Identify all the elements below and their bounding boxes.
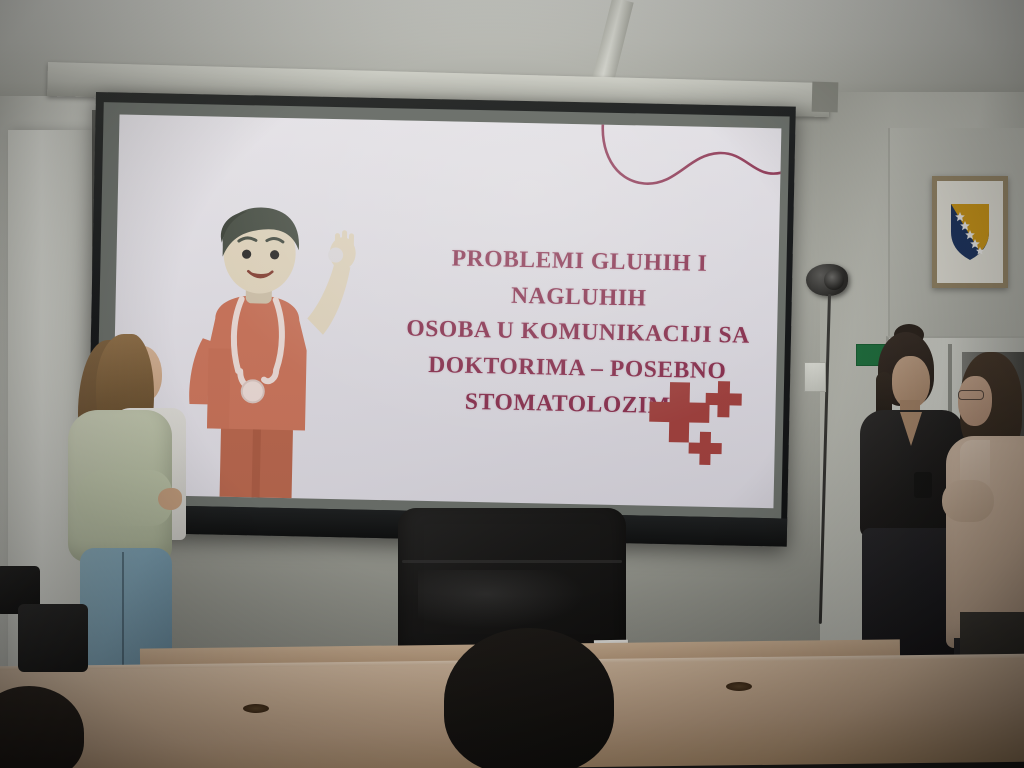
wall-fixture-lens-icon: [824, 270, 844, 290]
medical-cross-decoration-icon: [630, 369, 752, 471]
presenter-left-hand: [158, 488, 182, 510]
office-chair-highlight: [418, 570, 588, 630]
bosnia-herzegovina-coat-of-arms-icon: [948, 202, 992, 262]
projection-screen[interactable]: PROBLEMI GLUHIH I NAGLUHIH OSOBA U KOMUN…: [87, 92, 796, 547]
office-chair-seam: [402, 560, 622, 563]
room-photo-scene: PROBLEMI GLUHIH I NAGLUHIH OSOBA U KOMUN…: [0, 0, 1024, 768]
table-grommet: [726, 682, 752, 691]
framed-coat-of-arms: [932, 176, 1008, 288]
wall-socket: [804, 362, 826, 392]
slide-title-line-1: PROBLEMI GLUHIH I NAGLUHIH: [393, 240, 764, 319]
table-grommet: [243, 704, 269, 713]
presenter-black-phone: [914, 472, 932, 498]
presenter-beige-arm: [942, 480, 994, 522]
valance-end-cap: [812, 82, 839, 113]
equipment-bag: [18, 604, 88, 672]
wave-decoration-icon: [596, 114, 782, 204]
presenter-beige-face: [958, 376, 992, 426]
audience-head-center: [444, 628, 614, 768]
presentation-slide: PROBLEMI GLUHIH I NAGLUHIH OSOBA U KOMUN…: [112, 114, 782, 508]
glasses-icon: [958, 390, 984, 400]
